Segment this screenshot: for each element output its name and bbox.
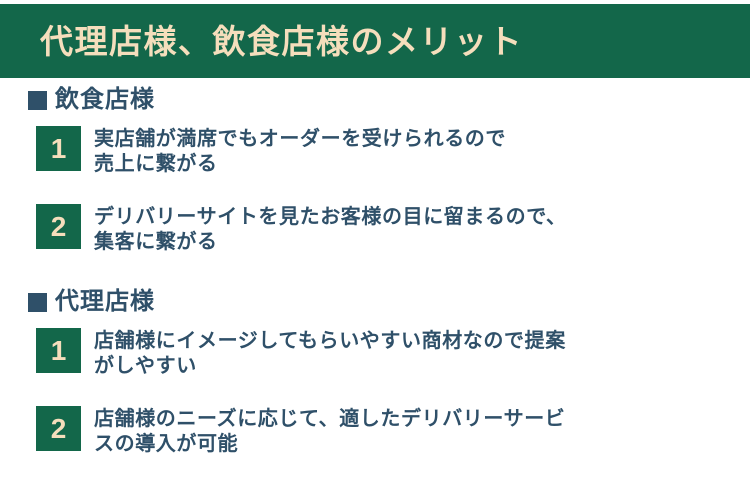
square-bullet-icon — [28, 91, 47, 110]
section-restaurant: 飲食店様 1 実店舗が満席でもオーダーを受けられるので 売上に繋がる 2 デリバ… — [0, 88, 750, 255]
item-number-badge: 1 — [36, 126, 81, 171]
item-list-restaurant: 1 実店舗が満席でもオーダーを受けられるので 売上に繋がる 2 デリバリーサイト… — [0, 126, 750, 255]
item-text: 店舗様にイメージしてもらいやすい商材なので提案 がしやすい — [94, 328, 566, 379]
item-number-badge: 1 — [36, 328, 81, 373]
list-item: 1 店舗様にイメージしてもらいやすい商材なので提案 がしやすい — [36, 328, 750, 379]
item-text-line: がしやすい — [94, 354, 566, 379]
item-text: デリバリーサイトを見たお客様の目に留まるので、 集客に繋がる — [94, 204, 567, 255]
item-text-line: デリバリーサイトを見たお客様の目に留まるので、 — [94, 205, 567, 230]
item-text-line: 集客に繋がる — [94, 230, 567, 255]
section-heading-restaurant: 飲食店様 — [28, 88, 750, 112]
item-text-line: スの導入が可能 — [94, 432, 565, 457]
list-item: 2 店舗様のニーズに応じて、適したデリバリーサービ スの導入が可能 — [36, 406, 750, 457]
section-heading-label: 飲食店様 — [55, 88, 155, 112]
header-banner: 代理店様、飲食店様のメリット — [0, 4, 750, 78]
section-agency: 代理店様 1 店舗様にイメージしてもらいやすい商材なので提案 がしやすい 2 店… — [0, 290, 750, 457]
item-text: 店舗様のニーズに応じて、適したデリバリーサービ スの導入が可能 — [94, 406, 565, 457]
section-heading-agency: 代理店様 — [28, 290, 750, 314]
item-text-line: 実店舗が満席でもオーダーを受けられるので — [94, 127, 506, 152]
page-title: 代理店様、飲食店様のメリット — [40, 25, 523, 58]
slide-root: 代理店様、飲食店様のメリット 飲食店様 1 実店舗が満席でもオーダーを受けられる… — [0, 0, 750, 500]
item-number-badge: 2 — [36, 406, 81, 451]
item-number-badge: 2 — [36, 204, 81, 249]
content-area: 飲食店様 1 実店舗が満席でもオーダーを受けられるので 売上に繋がる 2 デリバ… — [0, 78, 750, 500]
item-text: 実店舗が満席でもオーダーを受けられるので 売上に繋がる — [94, 126, 506, 177]
section-heading-label: 代理店様 — [55, 290, 155, 314]
list-item: 1 実店舗が満席でもオーダーを受けられるので 売上に繋がる — [36, 126, 750, 177]
item-text-line: 売上に繋がる — [94, 152, 506, 177]
item-text-line: 店舗様のニーズに応じて、適したデリバリーサービ — [94, 407, 565, 432]
list-item: 2 デリバリーサイトを見たお客様の目に留まるので、 集客に繋がる — [36, 204, 750, 255]
item-text-line: 店舗様にイメージしてもらいやすい商材なので提案 — [94, 329, 566, 354]
item-list-agency: 1 店舗様にイメージしてもらいやすい商材なので提案 がしやすい 2 店舗様のニー… — [0, 328, 750, 457]
square-bullet-icon — [28, 293, 47, 312]
